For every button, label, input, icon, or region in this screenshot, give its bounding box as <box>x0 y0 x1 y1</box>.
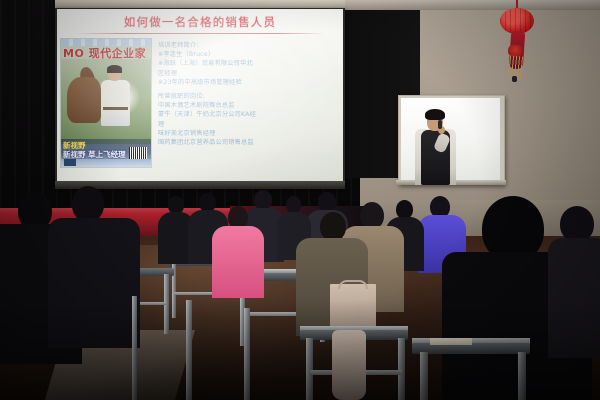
attendee-body <box>212 226 264 298</box>
paper-tote-bag <box>330 284 376 330</box>
attendee-body <box>548 238 600 358</box>
magazine-masthead: MO 现代企业家 <box>61 45 152 60</box>
slide-text-line: 培训老师简介: <box>158 41 290 50</box>
slide-text-line: 国药集团北京营养品公司销售总监 <box>158 138 290 147</box>
attendee-head <box>318 192 336 212</box>
attendee-head <box>320 212 346 241</box>
attendee-body <box>48 218 140 348</box>
attendee-head <box>72 186 104 222</box>
slide-magazine-cover: MO 现代企业家 新视野 新视野 草上飞经理 <box>60 38 152 168</box>
slide-title: 如何做一名合格的销售人员 <box>57 14 343 30</box>
desk-leg <box>420 352 428 400</box>
draped-coat <box>332 330 366 400</box>
tote-bag-handle <box>338 280 368 289</box>
ceiling-strip <box>330 0 600 10</box>
slide-text-line: 理 <box>158 120 290 129</box>
attendee-head <box>360 202 384 229</box>
desk-leg <box>132 296 137 400</box>
magazine-person-body <box>101 80 130 126</box>
slide-body-text: 培训老师简介:※李连生（Bruce）※海跃（上海）贸易有限公司华北区经理※23年… <box>158 41 290 147</box>
magazine-person-hair <box>107 65 122 73</box>
slide-text-line: 蒙牛（天津）牛奶北京分公司KA经 <box>158 110 290 119</box>
slide-text-line: 味好美北京销售经理 <box>158 129 290 138</box>
desk-leg <box>244 308 250 400</box>
slide-text-line: 区经理 <box>158 69 290 78</box>
slide-text-line: ※23年的中高级市场管理经验 <box>158 78 290 87</box>
desk-leg <box>306 338 313 400</box>
desk-leg <box>186 300 192 400</box>
magazine-barcode <box>129 147 147 159</box>
presenter-hair <box>425 109 445 120</box>
slide-text-line: 所曾就职的岗位: <box>158 92 290 101</box>
magazine-color-swatch <box>64 159 76 166</box>
projection-screen-bottom-bar <box>55 181 345 189</box>
attendee-head <box>286 196 301 213</box>
lantern-tip <box>512 76 517 82</box>
microphone-icon <box>438 120 442 129</box>
magazine-horse <box>67 77 101 123</box>
seminar-photo: 如何做一名合格的销售人员 MO 现代企业家 新视野 新视野 草上飞经理 培训老师… <box>0 0 600 400</box>
handout-papers <box>430 338 472 345</box>
magazine-person-belt <box>103 107 128 110</box>
slide-text-line: ※海跃（上海）贸易有限公司华北 <box>158 59 290 68</box>
desk-leg <box>398 338 405 400</box>
desk-leg <box>518 352 526 400</box>
slide-text-line: ※李连生（Bruce） <box>158 50 290 59</box>
slide-title-underline <box>75 33 325 34</box>
slide-text-line: 中国木偶艺术剧院舞台总监 <box>158 101 290 110</box>
attendee-head <box>560 206 594 242</box>
attendee-head <box>254 190 272 210</box>
